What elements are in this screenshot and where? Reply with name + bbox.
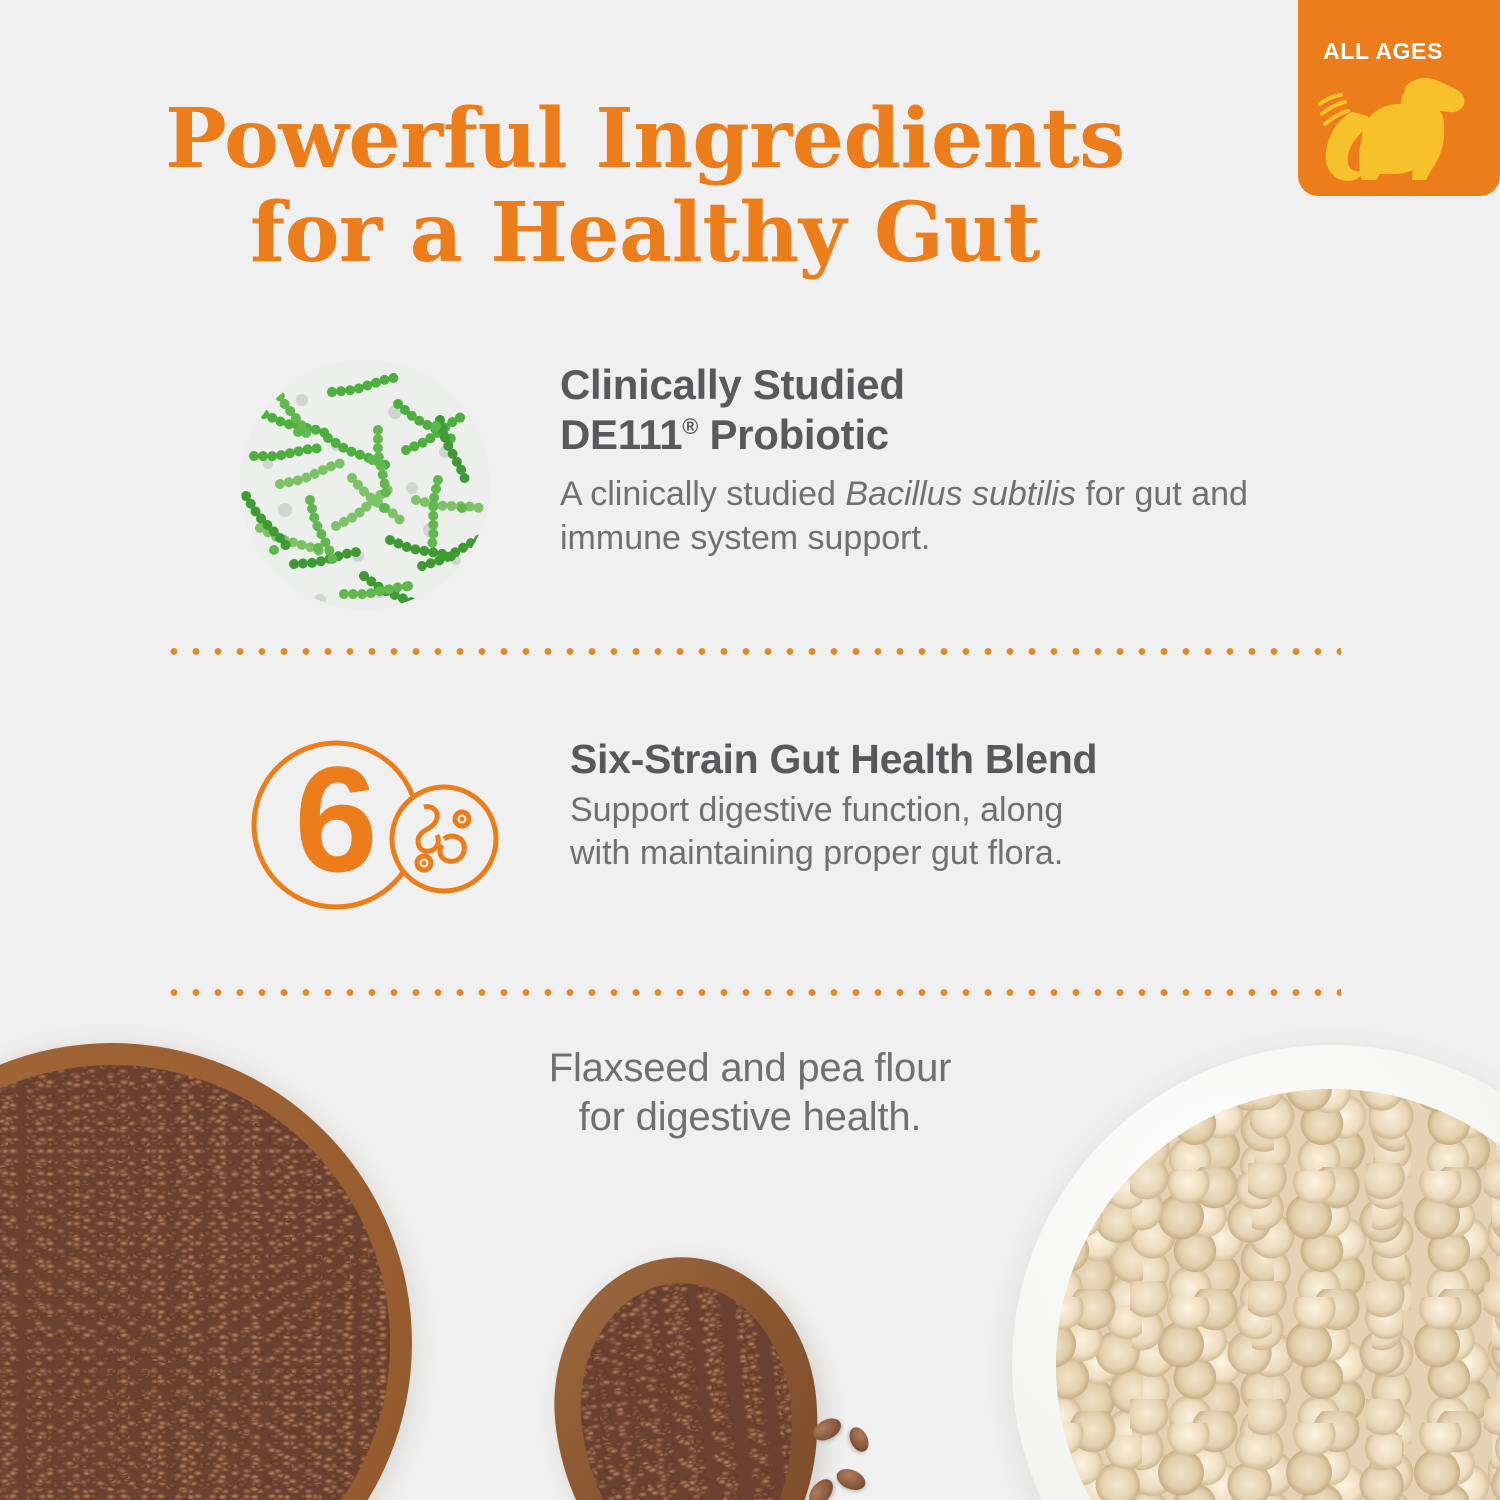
caption-line-2: for digestive health.: [0, 1093, 1500, 1142]
flaxseed-wooden-spoon-photo: [539, 1244, 834, 1500]
probiotic-desc-species: Bacillus subtilis: [845, 475, 1076, 513]
blend-desc-line-1: Support digestive function, along: [570, 791, 1063, 829]
loose-flaxseed: [846, 1424, 873, 1455]
feature-blend-text: Six-Strain Gut Health Blend Support dige…: [570, 735, 1328, 875]
feature-six-strain-blend: 6: [248, 735, 1328, 915]
six-numeral: 6: [294, 735, 377, 903]
all-ages-badge: ALL AGES: [1298, 0, 1500, 196]
feature-probiotic-text: Clinically Studied DE111® Probiotic A cl…: [560, 360, 1320, 560]
headline-line-2: for a Healthy Gut: [0, 186, 1290, 280]
probiotic-desc-pre: A clinically studied: [560, 475, 845, 513]
feature-probiotic-title: Clinically Studied DE111® Probiotic: [560, 360, 1320, 459]
dotted-divider: [163, 987, 1341, 998]
six-circle-graphic: 6: [248, 735, 508, 915]
headline-line-1: Powerful Ingredients: [0, 92, 1290, 186]
infographic-page: ALL AGES Powerful Ingredients fo: [0, 0, 1500, 1500]
six-with-bacteria-circle: 6: [248, 735, 508, 915]
dotted-divider: [163, 646, 1341, 657]
caption-line-1: Flaxseed and pea flour: [0, 1044, 1500, 1093]
bacteria-chains-illustration: [240, 360, 490, 610]
loose-flaxseed: [834, 1465, 869, 1494]
feature-blend-description: Support digestive function, along with m…: [570, 789, 1328, 875]
microscope-bacteria-icon: [240, 360, 490, 610]
six-strain-icon: 6: [248, 735, 508, 915]
probiotic-title-de111: DE111: [560, 411, 682, 458]
chickpea-texture: [1056, 1089, 1500, 1500]
flaxseed-pea-caption: Flaxseed and pea flour for digestive hea…: [0, 1044, 1500, 1142]
page-title: Powerful Ingredients for a Healthy Gut: [0, 92, 1290, 281]
registered-mark: ®: [682, 414, 698, 439]
microscope-circle: [240, 360, 490, 610]
spoon-flaxseed-texture: [568, 1273, 806, 1500]
blend-desc-line-2: with maintaining proper gut flora.: [570, 834, 1063, 872]
sitting-dog-icon: [1306, 68, 1470, 188]
probiotic-title-suffix: Probiotic: [698, 411, 889, 458]
feature-blend-title: Six-Strain Gut Health Blend: [570, 735, 1328, 783]
feature-clinically-studied-probiotic: Clinically Studied DE111® Probiotic A cl…: [240, 360, 1320, 610]
spoon-bowl-interior: [568, 1273, 806, 1500]
probiotic-title-line-1: Clinically Studied: [560, 361, 905, 408]
feature-probiotic-description: A clinically studied Bacillus subtilis f…: [560, 473, 1320, 560]
all-ages-label: ALL AGES: [1298, 38, 1468, 65]
chickpea-bowl-interior: [1056, 1089, 1500, 1500]
